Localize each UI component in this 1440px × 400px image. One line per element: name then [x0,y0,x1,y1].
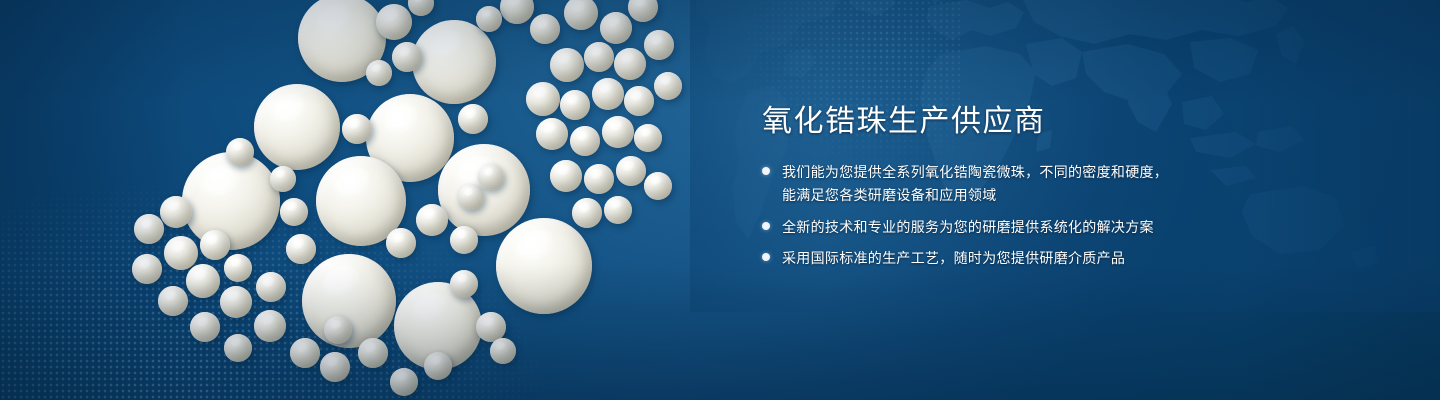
bullet-text: 全新的技术和专业的服务为您的研磨提供系统化的解决方案 [782,216,1154,239]
bullet-line-1: 采用国际标准的生产工艺，随时为您提供研磨介质产品 [782,250,1125,266]
bullet-dot-icon [762,222,770,230]
bullet-dot-icon [762,167,770,175]
feature-bullet-list: 我们能为您提供全系列氧化锆陶瓷微珠，不同的密度和硬度， 能满足您各类研磨设备和应… [762,161,1232,270]
list-item: 全新的技术和专业的服务为您的研磨提供系统化的解决方案 [762,216,1232,239]
list-item: 采用国际标准的生产工艺，随时为您提供研磨介质产品 [762,247,1232,270]
banner-content: 氧化锆珠生产供应商 我们能为您提供全系列氧化锆陶瓷微珠，不同的密度和硬度， 能满… [762,104,1232,279]
bullet-line-1: 我们能为您提供全系列氧化锆陶瓷微珠，不同的密度和硬度， [782,164,1168,180]
banner-headline: 氧化锆珠生产供应商 [762,104,1232,139]
bullet-dot-icon [762,253,770,261]
bullet-line-2: 能满足您各类研磨设备和应用领域 [782,184,1168,207]
bullet-text: 采用国际标准的生产工艺，随时为您提供研磨介质产品 [782,247,1125,270]
list-item: 我们能为您提供全系列氧化锆陶瓷微珠，不同的密度和硬度， 能满足您各类研磨设备和应… [762,161,1232,206]
promotional-banner: 氧化锆珠生产供应商 我们能为您提供全系列氧化锆陶瓷微珠，不同的密度和硬度， 能满… [0,0,1440,400]
bullet-line-1: 全新的技术和专业的服务为您的研磨提供系统化的解决方案 [782,219,1154,235]
bullet-text: 我们能为您提供全系列氧化锆陶瓷微珠，不同的密度和硬度， 能满足您各类研磨设备和应… [782,161,1168,206]
